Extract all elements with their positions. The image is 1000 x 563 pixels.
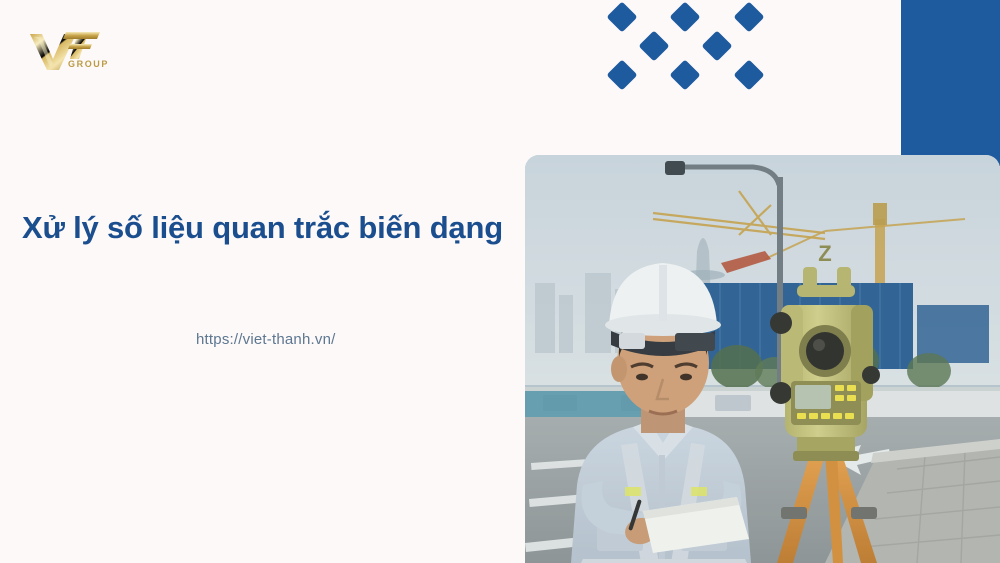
diamond-icon — [733, 59, 764, 90]
diamond-icon — [606, 59, 637, 90]
diamond-icon — [669, 59, 700, 90]
vt-group-logo[interactable]: GROUP — [26, 26, 112, 74]
surveyor-total-station-photo: Z — [525, 155, 1000, 563]
diamond-icon — [606, 1, 637, 32]
diamond-icon — [669, 1, 700, 32]
diamond-decoration-group — [600, 0, 780, 100]
page-title: Xử lý số liệu quan trắc biến dạng — [22, 209, 522, 248]
website-url[interactable]: https://viet-thanh.vn/ — [196, 331, 335, 348]
diamond-icon — [733, 1, 764, 32]
photo-illustration: Z — [525, 155, 1000, 563]
diamond-icon — [638, 30, 669, 61]
blue-accent-block — [901, 0, 1000, 166]
vt-group-wordmark: GROUP — [68, 59, 109, 69]
slide-canvas: GROUP Xử lý số liệu quan trắc biến dạng … — [0, 0, 1000, 563]
diamond-icon — [701, 30, 732, 61]
